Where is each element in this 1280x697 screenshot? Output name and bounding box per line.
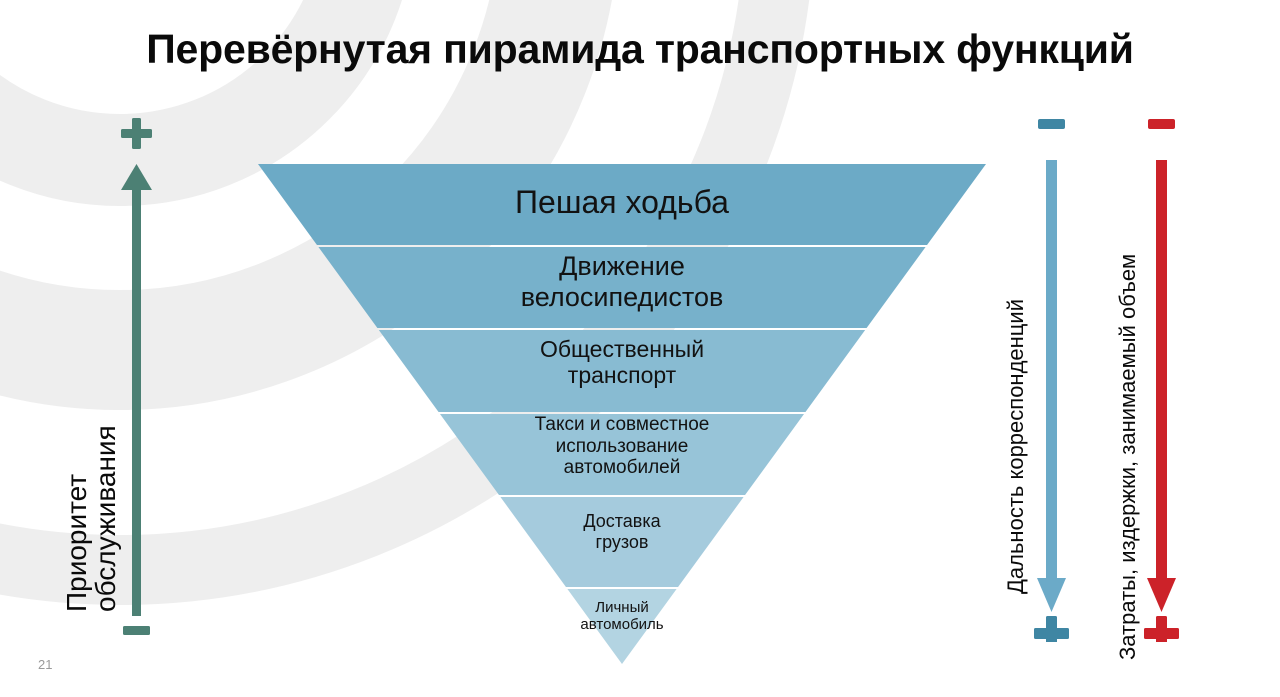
slide: Перевёрнутая пирамида транспортных функц… [0,0,1280,697]
pyramid-level-label-1: Пешая ходьба [258,184,986,220]
priority-axis-label: Приоритет обслуживания [62,425,120,612]
plus-sign-top [121,118,152,149]
pyramid-level-label-4: Такси и совместное использование автомоб… [258,414,986,479]
distance-axis-arrow [1030,112,1074,642]
priority-axis-label-line-1: Приоритет [62,425,91,612]
arrow-down [1147,160,1176,612]
priority-axis-label-line-2: обслуживания [91,425,120,612]
pyramid-level-4-line-2: использование [258,436,986,458]
pyramid-level-5-line-2: грузов [258,532,986,553]
pyramid-level-label-6: Личный автомобиль [258,599,986,633]
pyramid-labels: Пешая ходьба Движение велосипедистов Общ… [258,164,986,684]
page-title: Перевёрнутая пирамида транспортных функц… [0,28,1280,71]
pyramid-level-2-line-1: Движение [258,251,986,282]
pyramid-level-label-3: Общественный транспорт [258,336,986,388]
minus-sign-top [1148,119,1175,129]
arrow-up [121,164,152,616]
pyramid-level-5-line-1: Доставка [258,511,986,532]
page-number: 21 [38,657,52,672]
distance-axis-label: Дальность корреспонденций [1005,299,1028,594]
cost-axis-label: Затраты, издержки, занимаемый объем [1117,254,1140,660]
pyramid-level-6-line-1: Личный [258,599,986,616]
minus-sign-top [1038,119,1065,129]
pyramid-level-label-2: Движение велосипедистов [258,251,986,313]
minus-sign-bottom [123,626,150,635]
pyramid-level-4-line-3: автомобилей [258,457,986,479]
plus-sign-bottom [1034,616,1069,642]
pyramid-level-label-5: Доставка грузов [258,511,986,552]
pyramid-level-6-line-2: автомобиль [258,616,986,633]
cost-axis-arrow [1140,112,1184,642]
priority-axis-arrow [112,112,172,642]
arrow-down [1037,160,1066,612]
plus-sign-bottom [1144,616,1179,642]
pyramid-level-3-line-1: Общественный [258,336,986,362]
pyramid-level-2-line-2: велосипедистов [258,282,986,313]
pyramid-level-3-line-2: транспорт [258,362,986,388]
pyramid-level-4-line-1: Такси и совместное [258,414,986,436]
